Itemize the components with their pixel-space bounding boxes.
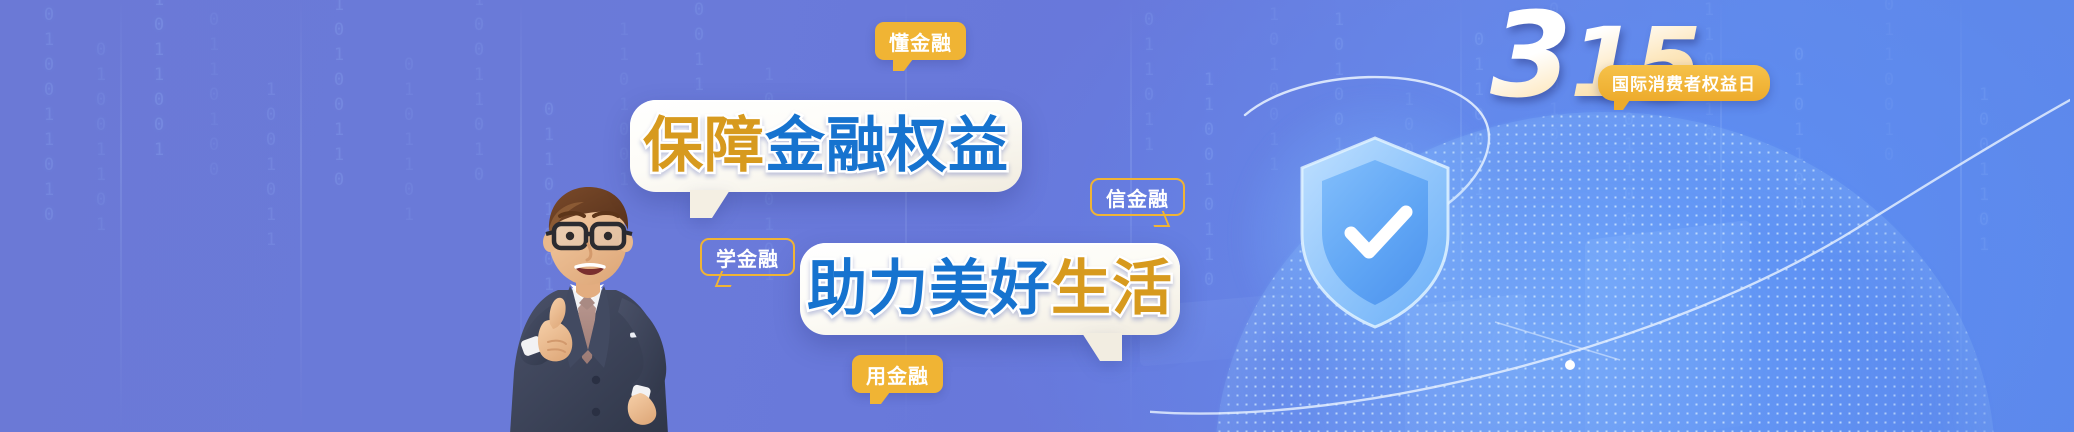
binary-column: 110110010 [1880,0,1897,170]
shield-check-icon [1288,130,1463,335]
tag-label: 懂金融 [889,27,952,56]
binary-column: 1001011 [262,80,279,255]
logo-315-digits-15: 15 [1570,7,1700,119]
binary-column: 0110100 [205,10,222,185]
logo-315-badge: 国际消费者权益日 [1598,65,1770,101]
businessman-thumbs-up-icon [492,172,707,432]
headline-primary-blue: 金融权益 [765,111,1009,181]
headline-primary-gold: 保障 [643,111,765,181]
headline-secondary-gold: 生活 [1051,254,1173,324]
tag-label: 信金融 [1106,183,1169,212]
headline-bubble-primary: 保障金融权益 [630,100,1022,192]
binary-column: 110010110 [1200,70,1217,295]
headline-secondary-blue: 助力美好 [807,254,1051,324]
binary-column: 01001101 [92,40,109,240]
binary-column: 0101101 [400,55,417,230]
binary-column: 10011010 [470,0,487,190]
tag-label: 用金融 [866,360,929,389]
tag-yong-jinrong[interactable]: 用金融 [852,355,943,393]
headline-secondary: 助力美好生活 [807,259,1173,319]
logo-315-digit-3: 3 [1490,0,1570,124]
decorative-panel [1585,220,1750,432]
binary-column: 1001101 [1975,85,1992,260]
tag-xin-jinrong[interactable]: 信金融 [1090,178,1185,216]
binary-column: 0011011 [1140,0,1157,160]
tag-dong-jinrong[interactable]: 懂金融 [875,22,966,60]
headline-bubble-secondary: 助力美好生活 [800,243,1180,335]
binary-column: 101011001 [150,0,167,165]
headline-primary: 保障金融权益 [643,116,1009,176]
logo-315-badge-label: 国际消费者权益日 [1612,75,1756,95]
binary-column: 110100110 [330,0,347,195]
logo-315: 315 国际消费者权益日 [1490,2,1820,110]
tag-label: 学金融 [716,243,779,272]
promo-banner: 1010011010010011011010110010110100100101… [0,0,2074,432]
tag-xue-jinrong[interactable]: 学金融 [700,238,795,276]
binary-column: 1010011010 [40,0,57,230]
